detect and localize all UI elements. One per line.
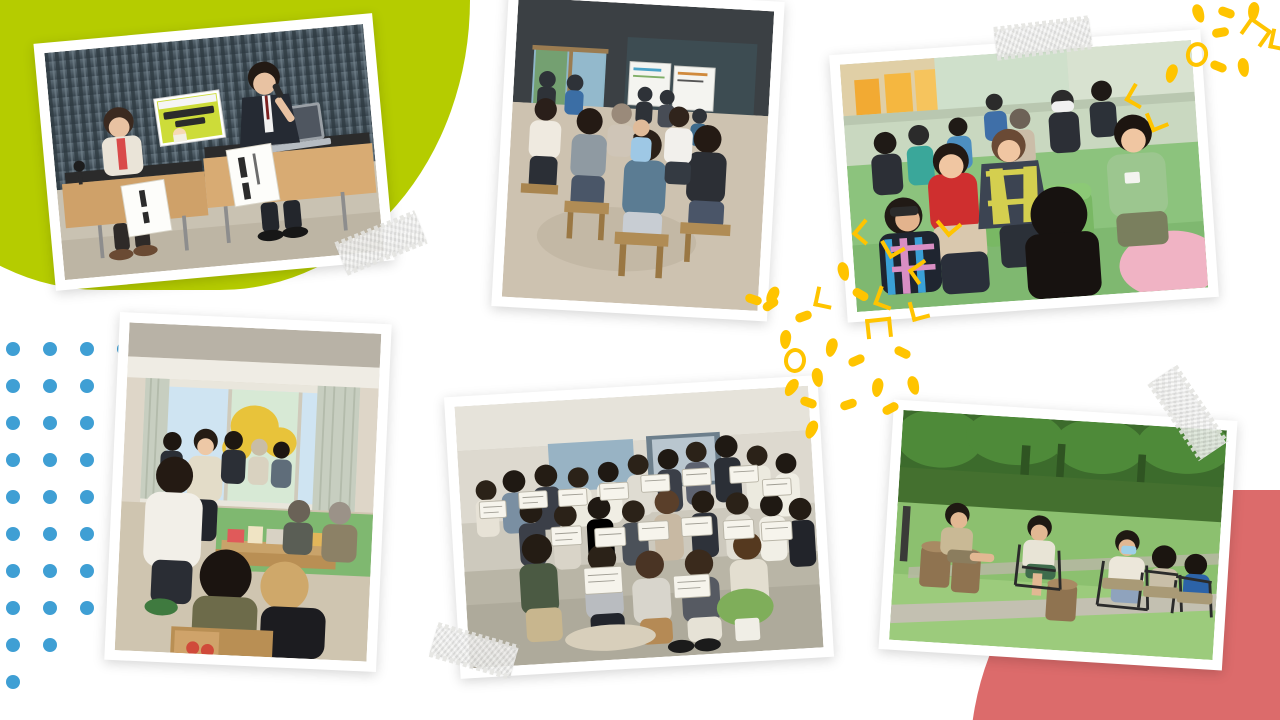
scribble-mark bbox=[906, 375, 921, 396]
scribble-mark bbox=[1240, 16, 1273, 47]
scribble-mark bbox=[783, 347, 807, 374]
photo-group-portrait[interactable] bbox=[444, 375, 834, 679]
grid-dot bbox=[80, 453, 94, 467]
scribble-mark bbox=[1190, 3, 1206, 24]
scribble-mark bbox=[893, 345, 912, 361]
photo-circle-workshop-image bbox=[502, 0, 774, 311]
scribble-mark bbox=[1217, 5, 1236, 19]
photo-community-room[interactable] bbox=[104, 312, 392, 672]
scribble-mark bbox=[870, 377, 884, 398]
grid-dot bbox=[43, 379, 57, 393]
grid-dot bbox=[43, 527, 57, 541]
grid-dot bbox=[6, 379, 20, 393]
scribble-mark bbox=[813, 286, 835, 309]
scribble-mark bbox=[1247, 1, 1261, 21]
scribble-mark bbox=[794, 309, 813, 323]
grid-dot bbox=[80, 379, 94, 393]
grid-dot bbox=[80, 490, 94, 504]
scribble-mark bbox=[1209, 59, 1228, 74]
grid-dot bbox=[80, 601, 94, 615]
scribble-mark bbox=[779, 330, 792, 350]
grid-dot bbox=[43, 601, 57, 615]
grid-dot bbox=[6, 527, 20, 541]
grid-dot bbox=[43, 638, 57, 652]
grid-dot bbox=[6, 490, 20, 504]
grid-dot bbox=[6, 564, 20, 578]
grid-dot bbox=[43, 490, 57, 504]
grid-dot bbox=[43, 416, 57, 430]
grid-dot bbox=[43, 453, 57, 467]
grid-dot bbox=[80, 342, 94, 356]
grid-dot bbox=[80, 527, 94, 541]
photo-community-room-image bbox=[115, 322, 382, 661]
photo-outdoor-park-image bbox=[889, 410, 1227, 660]
photo-group-portrait-image bbox=[455, 386, 824, 669]
grid-dot bbox=[6, 675, 20, 689]
grid-dot bbox=[6, 342, 20, 356]
grid-dot bbox=[6, 453, 20, 467]
grid-dot bbox=[43, 564, 57, 578]
photo-panel-discussion-image bbox=[44, 24, 383, 280]
scribble-mark bbox=[824, 337, 840, 358]
grid-dot bbox=[80, 416, 94, 430]
grid-dot bbox=[43, 342, 57, 356]
photo-circle-workshop[interactable] bbox=[491, 0, 784, 321]
grid-dot bbox=[6, 638, 20, 652]
grid-dot bbox=[6, 416, 20, 430]
photo-group-conversation[interactable] bbox=[829, 29, 1219, 322]
grid-dot bbox=[80, 564, 94, 578]
scribble-mark bbox=[1268, 28, 1280, 51]
grid-dot bbox=[6, 601, 20, 615]
scribble-mark bbox=[839, 398, 858, 412]
photo-group-conversation-image bbox=[840, 40, 1208, 312]
scribble-mark bbox=[847, 353, 866, 368]
collage-stage bbox=[0, 0, 1280, 720]
scribble-mark bbox=[1237, 57, 1251, 77]
scribble-mark bbox=[1211, 27, 1229, 39]
